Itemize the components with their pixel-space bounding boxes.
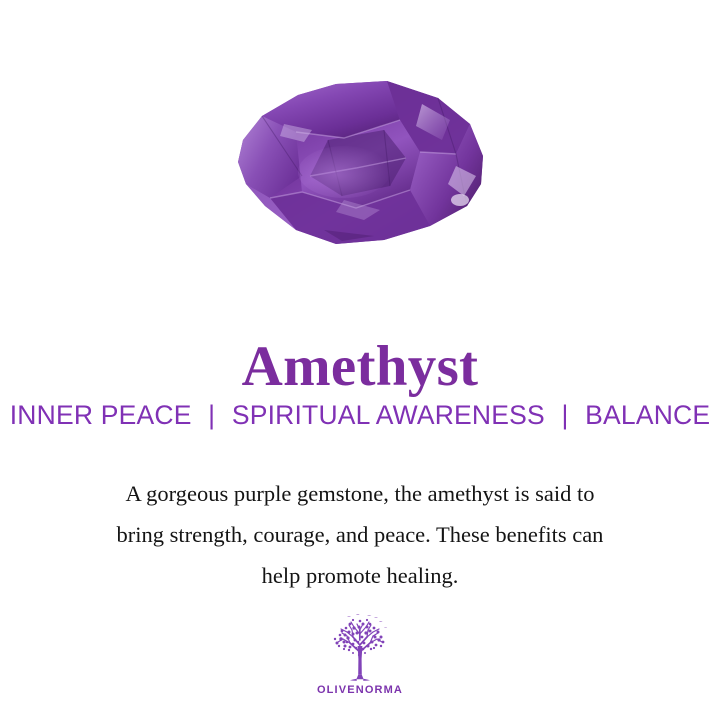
tree-of-life-icon	[323, 612, 397, 682]
brand-name: OLIVENORMA	[317, 684, 403, 697]
keyword-tagline: INNER PEACE | SPIRITUAL AWARENESS | BALA…	[0, 398, 720, 432]
description-line: A gorgeous purple gemstone, the amethyst…	[50, 473, 670, 514]
brand-logo: OLIVENORMA	[0, 612, 720, 697]
amethyst-crystal-illustration	[224, 80, 496, 262]
page-title: Amethyst	[0, 334, 720, 400]
amethyst-stone-image	[0, 78, 720, 264]
description-text: A gorgeous purple gemstone, the amethyst…	[50, 473, 670, 596]
tagline-item-inner-peace: INNER PEACE	[10, 400, 192, 430]
amethyst-info-card: Amethyst INNER PEACE | SPIRITUAL AWARENE…	[0, 0, 720, 720]
tagline-separator: |	[552, 398, 577, 432]
tagline-item-balance: BALANCE	[585, 400, 710, 430]
tagline-item-spiritual-awareness: SPIRITUAL AWARENESS	[232, 400, 545, 430]
tagline-separator: |	[199, 398, 224, 432]
description-line: help promote healing.	[50, 555, 670, 596]
description-line: bring strength, courage, and peace. Thes…	[50, 514, 670, 555]
